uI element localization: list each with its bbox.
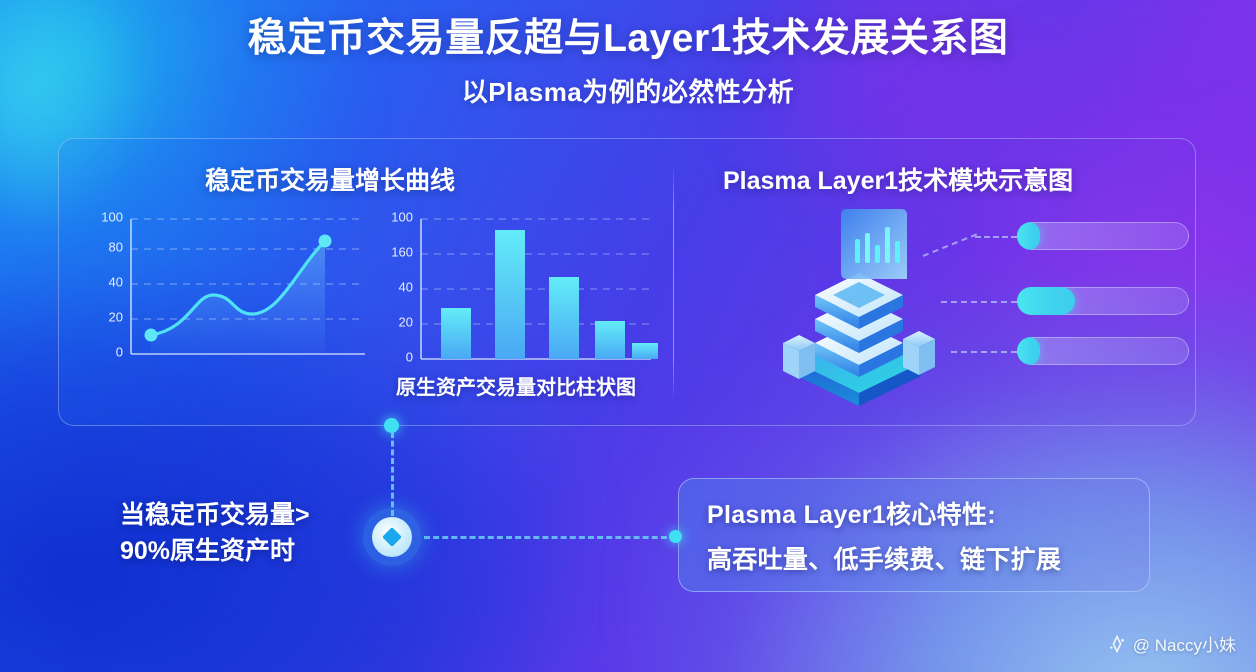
flow-connector-horizontal <box>424 536 676 539</box>
watermark-text: @ Naccy小妹 <box>1133 631 1236 656</box>
bar-5 <box>632 343 658 359</box>
bar-3 <box>549 277 579 359</box>
callout-line-2: 高吞吐量、低手续费、链下扩展 <box>707 540 1149 576</box>
infographic-canvas: 稳定币交易量反超与Layer1技术发展关系图 以Plasma为例的必然性分析 稳… <box>0 0 1256 672</box>
line-chart-ytick-3: 20 <box>87 310 123 325</box>
line-chart-ytick-4: 0 <box>87 345 123 360</box>
line-chart-plot <box>129 217 379 367</box>
module-bar-2-fill <box>1017 287 1075 315</box>
line-chart-ytick-1: 80 <box>87 240 123 255</box>
connector-dash-3 <box>951 351 1017 353</box>
callout-card: Plasma Layer1核心特性: 高吞吐量、低手续费、链下扩展 <box>678 478 1150 592</box>
bar-2 <box>495 230 525 359</box>
bar-chart-ytick-0: 100 <box>377 210 413 225</box>
flow-connector-vertical <box>391 432 394 516</box>
line-chart-ytick-2: 40 <box>87 275 123 290</box>
module-bar-1-track <box>1017 222 1189 250</box>
right-panel-heading: Plasma Layer1技术模块示意图 <box>723 161 1073 197</box>
page-title: 稳定币交易量反超与Layer1技术发展关系图 <box>0 16 1256 62</box>
bar-chart-ytick-3: 20 <box>377 315 413 330</box>
connector-dash-1b <box>975 236 1017 238</box>
bar-1 <box>441 308 471 359</box>
flow-node-inner <box>372 517 412 557</box>
flow-node-top <box>384 418 399 433</box>
module-bar-3-fill <box>1017 337 1040 365</box>
condition-text: 当稳定币交易量> 90%原生资产时 <box>120 498 310 569</box>
module-bar-2[interactable] <box>1017 287 1189 315</box>
charts-card: 稳定币交易量增长曲线 Plasma Layer1技术模块示意图 100 80 4… <box>58 138 1196 426</box>
line-chart: 100 80 40 20 0 <box>87 217 377 367</box>
flow-node-main <box>363 508 421 566</box>
bar-chart-ytick-1: 160 <box>377 245 413 260</box>
bar-chart: 100 160 40 20 0 <box>377 217 657 367</box>
flow-node-right <box>669 530 682 543</box>
module-bar-1-fill <box>1017 222 1040 250</box>
header: 稳定币交易量反超与Layer1技术发展关系图 以Plasma为例的必然性分析 <box>0 16 1256 109</box>
line-chart-ytick-0: 100 <box>87 210 123 225</box>
condition-line-1: 当稳定币交易量> <box>120 498 310 534</box>
diamond-sparkle-icon <box>1108 635 1126 653</box>
card-divider <box>673 165 674 401</box>
connector-dash-2 <box>941 301 1017 303</box>
bar-chart-ytick-2: 40 <box>377 280 413 295</box>
module-bar-3-track <box>1017 337 1189 365</box>
module-bar-1[interactable] <box>1017 222 1189 250</box>
page-subtitle: 以Plasma为例的必然性分析 <box>0 72 1256 109</box>
layer1-module-illustration <box>679 199 1189 414</box>
diamond-icon <box>382 527 402 547</box>
module-bar-3[interactable] <box>1017 337 1189 365</box>
bar-chart-plot <box>419 217 659 367</box>
bar-chart-ytick-4: 0 <box>377 350 413 365</box>
condition-line-2: 90%原生资产时 <box>120 534 310 570</box>
left-panel-heading: 稳定币交易量增长曲线 <box>205 161 455 197</box>
bar-4 <box>595 321 625 359</box>
callout-line-1: Plasma Layer1核心特性: <box>707 495 1149 531</box>
watermark: @ Naccy小妹 <box>1108 631 1236 656</box>
bar-chart-caption: 原生资产交易量对比柱状图 <box>379 371 653 400</box>
